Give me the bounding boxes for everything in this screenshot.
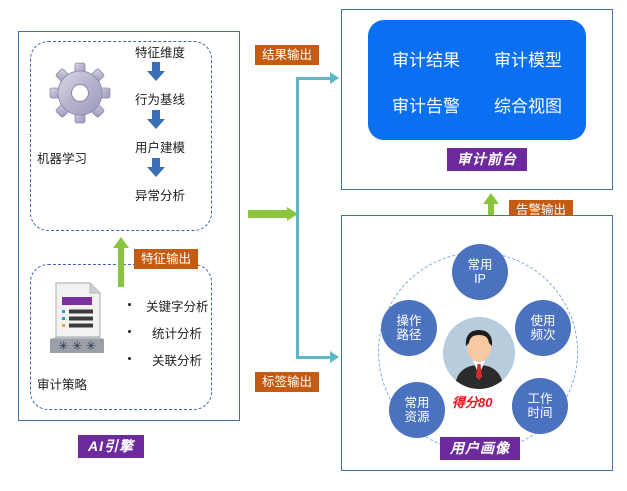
tag-output-tag: 标签输出 — [255, 372, 319, 392]
audit-front-title-tag: 审计前台 — [447, 148, 527, 171]
circle-line-2: 频次 — [530, 328, 555, 342]
connector-arrow-top — [330, 72, 339, 84]
connector-spine — [296, 77, 299, 359]
avatar — [443, 317, 515, 389]
result-output-tag: 结果输出 — [255, 45, 319, 65]
connector-arrow-bottom — [330, 351, 339, 363]
connector-arm-top — [296, 77, 332, 80]
circle-line-2: 资源 — [404, 410, 429, 424]
flow-step-1: 特征维度 — [127, 42, 193, 61]
portrait-circle-changyong-ip[interactable]: 常用 IP — [452, 244, 508, 300]
circle-line-1: 操作 — [396, 314, 421, 328]
gear-icon — [49, 62, 111, 124]
score-label: 得分80 — [452, 392, 492, 411]
svg-text:✳ ✳ ✳: ✳ ✳ ✳ — [58, 339, 96, 353]
policy-bullet-2: 统计分析 — [152, 323, 202, 342]
audit-policy-label: 审计策略 — [37, 378, 87, 392]
flow-step-4: 异常分析 — [127, 185, 193, 204]
flow-step-3: 用户建模 — [127, 137, 193, 156]
audit-item-2[interactable]: 审计模型 — [494, 46, 562, 71]
circle-line-1: 使用 — [530, 314, 555, 328]
document-icon: ✳ ✳ ✳ — [46, 281, 108, 357]
portrait-circle-caozuo-lujing[interactable]: 操作 路径 — [381, 300, 437, 356]
audit-item-3[interactable]: 审计告警 — [392, 92, 460, 117]
machine-learning-label: 机器学习 — [37, 152, 87, 166]
circle-line-2: 路径 — [396, 328, 421, 342]
audit-item-1[interactable]: 审计结果 — [392, 46, 460, 71]
audit-item-4[interactable]: 综合视图 — [494, 92, 562, 117]
circle-line-1: 工作 — [527, 392, 552, 406]
policy-bullet-1: 关键字分析 — [146, 296, 209, 315]
circle-line-2: 时间 — [527, 406, 552, 420]
ai-engine-title-tag: AI引擎 — [78, 435, 144, 458]
feature-output-arrow — [113, 237, 129, 287]
bullet-dot — [128, 330, 131, 333]
user-portrait-title-tag: 用户画像 — [440, 437, 520, 460]
portrait-circle-changyong-ziyuan[interactable]: 常用 资源 — [389, 382, 445, 438]
connector-arm-bottom — [296, 356, 332, 359]
bullet-dot — [128, 357, 131, 360]
flow-step-2: 行为基线 — [127, 89, 193, 108]
circle-line-2: IP — [467, 272, 492, 286]
policy-bullet-3: 关联分析 — [152, 350, 202, 369]
audit-front-box: 审计结果 审计模型 审计告警 综合视图 — [368, 20, 586, 140]
bullet-dot — [128, 303, 131, 306]
feature-output-tag: 特征输出 — [134, 249, 198, 269]
circle-line-1: 常用 — [404, 396, 429, 410]
portrait-circle-shiyong-pinci[interactable]: 使用 频次 — [515, 300, 571, 356]
portrait-circle-gongzuo-shijian[interactable]: 工作 时间 — [512, 378, 568, 434]
engine-to-output-arrow — [248, 207, 298, 221]
circle-line-1: 常用 — [467, 258, 492, 272]
